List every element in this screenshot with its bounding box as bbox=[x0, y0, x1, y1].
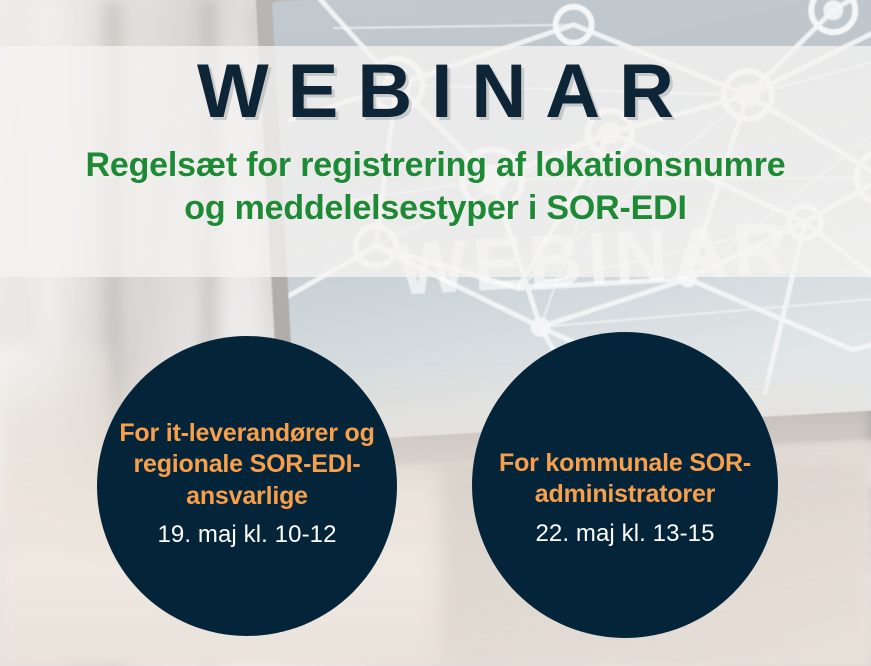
page-title: WEBINAR bbox=[178, 54, 693, 130]
session-time: 19. maj kl. 10-12 bbox=[157, 521, 336, 550]
session-heading: For it-leverandører og regionale SOR-EDI… bbox=[119, 418, 375, 513]
session-circle-it-suppliers: For it-leverandører og regionale SOR-EDI… bbox=[97, 336, 397, 636]
session-heading: For kommunale SOR-administratorer bbox=[498, 448, 752, 511]
subtitle-line-2: og meddelelsestyper i SOR-EDI bbox=[184, 189, 686, 227]
webinar-poster: WEBINAR WEBINAR Regelsæt for registrerin… bbox=[0, 0, 871, 666]
page-subtitle: Regelsæt for registrering af lokationsnu… bbox=[86, 144, 786, 229]
session-time: 22. maj kl. 13-15 bbox=[535, 520, 714, 549]
session-circle-municipal-admins: For kommunale SOR-administratorer 22. ma… bbox=[472, 332, 778, 638]
subtitle-line-1: Regelsæt for registrering af lokationsnu… bbox=[86, 146, 786, 184]
headline-block: WEBINAR Regelsæt for registrering af lok… bbox=[0, 46, 871, 277]
